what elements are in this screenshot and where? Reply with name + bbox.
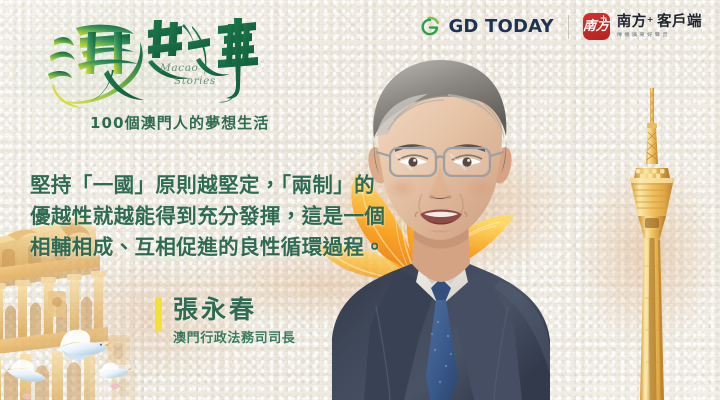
brand-bar: GD TODAY 南方 + 南方+客户端 傳播廣東好聲音 [419,13,702,40]
quote-line-2: 優越性就越能得到充分發揮，這是一個 [30,201,390,232]
nanfang-app-icon: 南方 + [583,13,610,40]
gd-swoosh-icon [419,16,441,38]
attribution-text: 張永春 澳門行政法務司司長 [173,296,295,346]
quote-line-3: 相輔相成、互相促進的良性循環過程。 [30,232,390,263]
gd-today-label: GD TODAY [448,16,553,37]
logo-english-title: Macao Stories [160,62,216,88]
logo-subtitle: 100個澳門人的夢想生活 [90,112,270,133]
gd-today-logo[interactable]: GD TODAY [419,16,553,38]
flying-doves-icon [0,300,162,400]
nanfang-title-main: 南方 [617,15,647,30]
nanfang-logo[interactable]: 南方 + 南方+客户端 傳播廣東好聲音 [583,13,702,40]
logo-english-line2: Stories [160,75,216,88]
macau-tower-icon [592,88,712,400]
quote-line-1: 堅持「一國」原則越堅定，「兩制」的 [30,170,390,201]
attribution-accent-bar [155,298,162,332]
program-logo: Macao Stories 100個澳門人的夢想生活 [42,12,267,130]
nanfang-title: 南方+客户端 [617,15,702,30]
speaker-name: 張永春 [173,296,295,323]
poster-canvas: Macao Stories 100個澳門人的夢想生活 GD TODAY 南方 +… [0,0,720,400]
nanfang-wordmark: 南方+客户端 傳播廣東好聲音 [617,15,702,38]
macao-stories-calligraphy-icon [42,12,267,108]
attribution-block: 張永春 澳門行政法務司司長 [155,296,295,346]
nanfang-tagline: 傳播廣東好聲音 [617,31,702,37]
brand-divider [568,15,569,39]
quote-block: 堅持「一國」原則越堅定，「兩制」的 優越性就越能得到充分發揮，這是一個 相輔相成… [30,170,390,263]
nanfang-title-rest: 客户端 [657,15,702,30]
speaker-title: 澳門行政法務司司長 [173,327,295,346]
logo-english-line1: Macao [160,62,198,74]
nanfang-icon-plus: + [600,15,608,24]
nanfang-title-plus: + [647,16,654,24]
